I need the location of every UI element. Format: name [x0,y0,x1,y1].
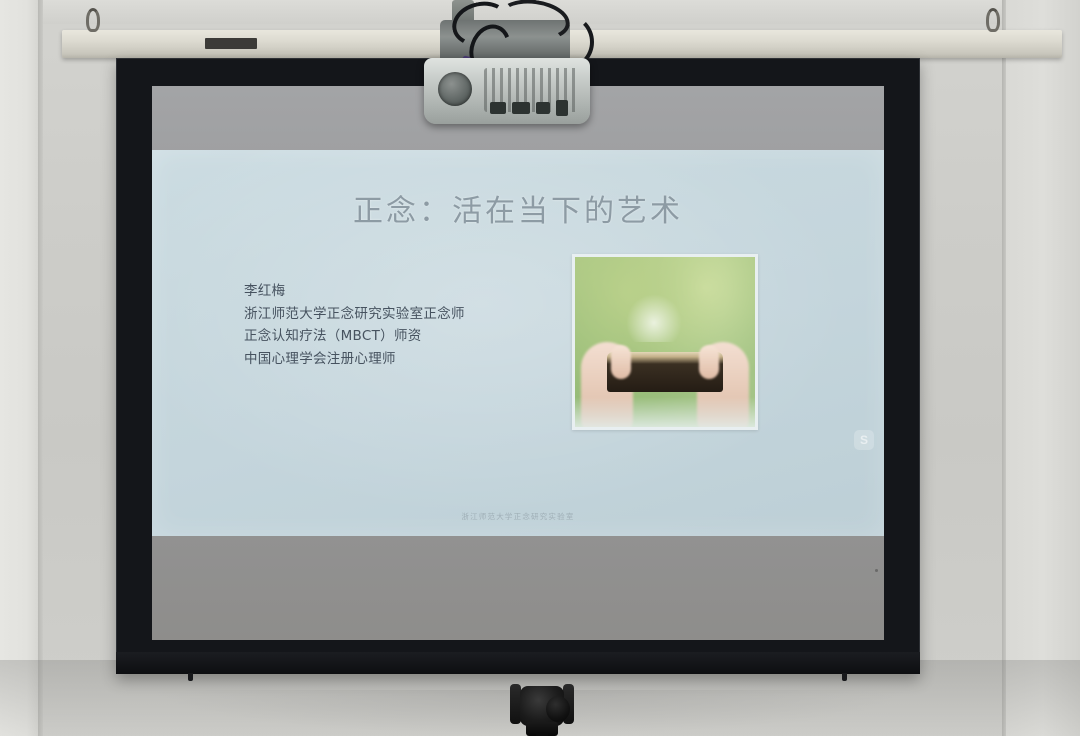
wps-logo-badge[interactable]: S [854,430,874,450]
projector-lens-icon [438,72,472,106]
projector-port-hdmi [490,102,506,114]
slide-presenter-info: 李红梅 浙江师范大学正念研究实验室正念师 正念认知疗法（MBCT）师资 中国心理… [244,280,594,370]
projection-screen-frame: 正念：活在当下的艺术 李红梅 浙江师范大学正念研究实验室正念师 正念认知疗法（M… [116,58,920,674]
photo-thumb-right [699,345,719,379]
wall-right-panel [1006,0,1080,736]
screen-tab-right [842,673,847,681]
wall-left-seam [38,0,43,736]
photo-bottom-fade [575,397,755,427]
presenter-credential-mbct: 正念认知疗法（MBCT）师资 [244,325,594,348]
ptz-conference-camera [504,682,580,736]
roller-hook-left-icon [86,8,100,32]
projected-slide: 正念：活在当下的艺术 李红梅 浙江师范大学正念研究实验室正念师 正念认知疗法（M… [152,150,884,536]
projection-screen-surface: 正念：活在当下的艺术 李红梅 浙江师范大学正念研究实验室正念师 正念认知疗法（M… [152,86,884,640]
presenter-affiliation: 浙江师范大学正念研究实验室正念师 [244,303,594,326]
presenter-name: 李红梅 [244,280,594,303]
roller-hook-right-icon [986,8,1000,32]
slide-photo-hands-holding-cup [575,257,755,427]
photo-thumb-left [611,345,631,379]
slide-title: 正念：活在当下的艺术 [152,186,884,230]
slide-corner-dot [875,569,878,572]
ceiling-mounted-projector [424,58,590,124]
projector-port-usb [536,102,550,114]
screen-bottom-weight-bar [116,652,920,674]
slide-photo-frame [572,254,758,430]
camera-body [520,686,564,726]
classroom-wall: 正念：活在当下的艺术 李红梅 浙江师范大学正念研究实验室正念师 正念认知疗法（M… [0,0,1080,736]
projector-port-vga [512,102,530,114]
presenter-credential-registered: 中国心理学会注册心理师 [244,348,594,371]
projector-port-power [556,100,568,116]
slide-footer: 浙江师范大学正念研究实验室 [152,511,884,522]
photo-steam [626,294,682,342]
wall-left-panel [0,0,38,736]
camera-stem [536,732,548,736]
camera-lens-icon [546,696,570,722]
screen-tab-left [188,673,193,681]
roller-housing-label [205,38,257,49]
